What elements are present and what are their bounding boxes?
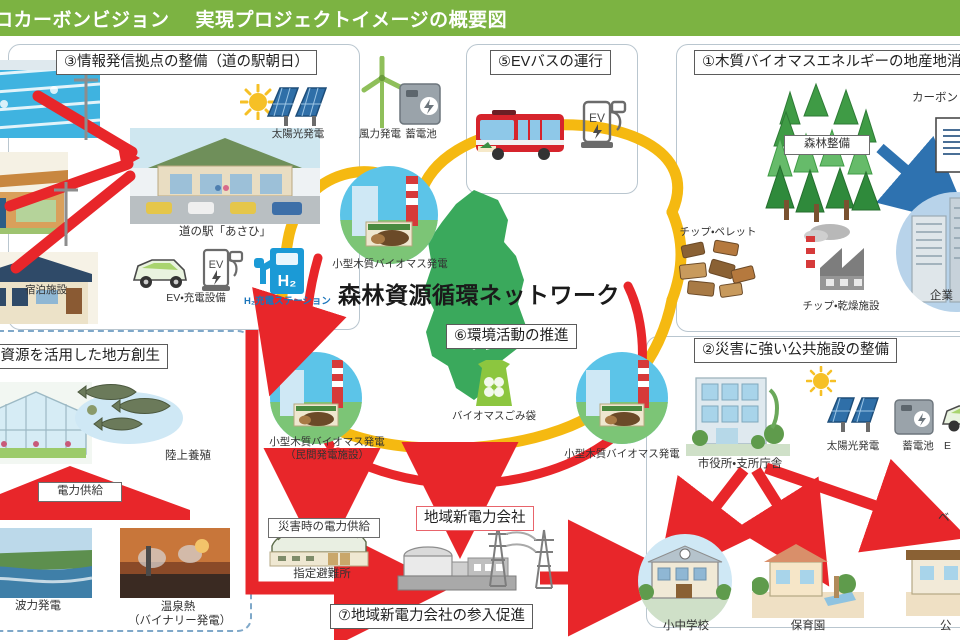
caption-battery-right: 蓄電池 — [892, 440, 944, 452]
chip-section-6: ⑥環境活動の推進 — [446, 324, 577, 349]
caption-chips-pellets: チップ・ペレット — [676, 226, 760, 238]
chip-section-3: ③情報発信拠点の整備（道の駅朝日） — [56, 50, 317, 75]
caption-nursery: 保育園 — [772, 620, 844, 634]
caption-right-cut: ベ — [938, 512, 960, 526]
caption-hotspring-heat: 温泉熱 （バイナリー発電） — [128, 600, 228, 628]
caption-battery-top: 蓄電池 — [392, 128, 450, 140]
caption-ev-right-cut: E — [944, 440, 960, 452]
chip-new-power-company: 地域新電力会社 — [416, 506, 534, 531]
caption-solar-right: 太陽光発電 — [820, 440, 886, 452]
center-network-title: 森林資源循環ネットワーク — [338, 276, 620, 310]
caption-wave-power: 波力発電 — [0, 600, 80, 614]
chip-section-5: ⑤EVバスの運行 — [490, 50, 611, 75]
caption-city-hall: 市役所・支所庁舎 — [684, 458, 796, 472]
chip-section-4: ネ資源を活用した地方創生 — [0, 344, 168, 369]
caption-biomass-bag: バイオマスごみ袋 — [436, 410, 552, 422]
caption-forest-maintenance: 森林整備 — [784, 135, 870, 155]
caption-biomass-small-top: 小型木質バイオマス発電 — [320, 258, 460, 270]
caption-facility-cut-1: 施設 — [0, 138, 40, 150]
chip-section-1: ①木質バイオマスエネルギーの地産地消 — [694, 50, 960, 75]
caption-hotspring-l2: （バイナリー発電） — [128, 615, 231, 627]
caption-power-supply: 電力供給 — [38, 482, 122, 502]
caption-company-cut: 企業 — [930, 290, 960, 304]
caption-facility-cut-2: 設 — [0, 236, 40, 248]
caption-biomass-private-l1: 小型木質バイオマス発電 — [269, 436, 385, 448]
caption-school: 小中学校 — [650, 620, 722, 634]
caption-h2-station: H₂充電ステーション — [244, 296, 322, 307]
caption-carbon-cut: カーボン — [912, 92, 960, 106]
caption-hotspring-l1: 温泉熱 — [161, 601, 196, 613]
caption-lodging: 宿泊施設 — [6, 284, 86, 296]
section3-red-arrows — [0, 0, 960, 640]
chip-section-7: ⑦地域新電力会社の参入促進 — [330, 604, 533, 629]
caption-biomass-private-l2: （民間発電施設） — [285, 449, 369, 461]
caption-roadside-station: 道の駅「あさひ」 — [150, 226, 300, 240]
caption-land-aquaculture: 陸上養殖 — [152, 450, 224, 464]
infographic-canvas: ロカーボンビジョン実現プロジェクトイメージの概要図 — [0, 0, 960, 640]
caption-solar-top: 太陽光発電 — [262, 128, 334, 140]
caption-ev-charge: EV・充電設備 — [136, 292, 256, 304]
caption-shelter: 指定避難所 — [282, 568, 362, 582]
caption-biomass-small-private: 小型木質バイオマス発電 （民間発電施設） — [252, 436, 402, 462]
chip-section-2: ②災害に強い公共施設の整備 — [694, 338, 897, 363]
caption-right-cut2: 公 — [940, 620, 960, 634]
caption-chip-drying: チップ・乾燥施設 — [788, 300, 894, 312]
caption-biomass-small-right: 小型木質バイオマス発電 — [552, 448, 692, 460]
caption-disaster-power: 災害時の電力供給 — [268, 518, 380, 538]
